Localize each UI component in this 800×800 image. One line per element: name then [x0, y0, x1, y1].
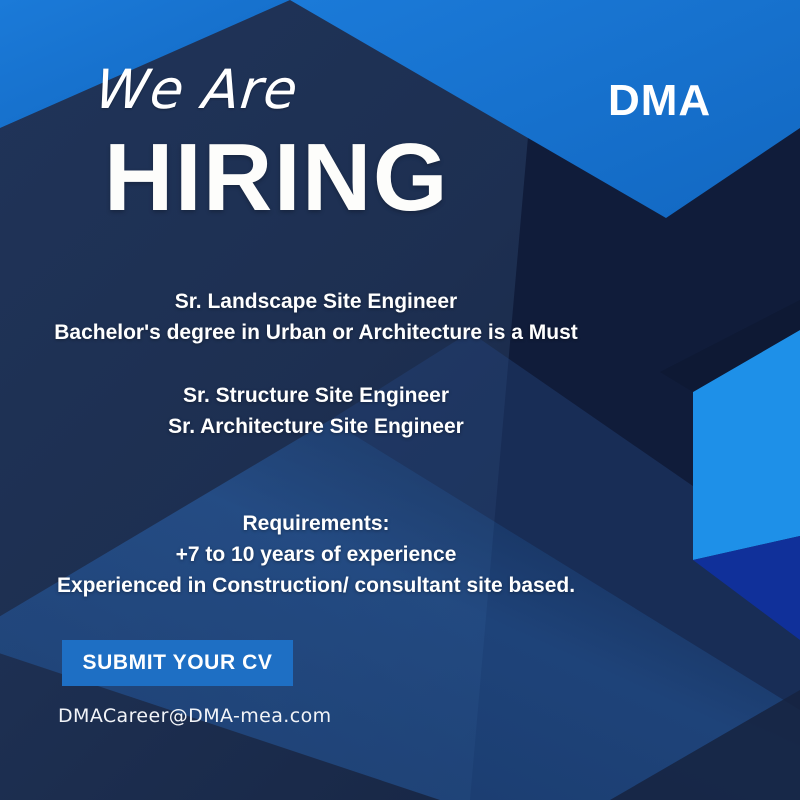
jobs-secondary-block: Sr. Structure Site Engineer Sr. Architec… — [0, 380, 632, 442]
requirements-block: Requirements: +7 to 10 years of experien… — [0, 508, 632, 601]
hiring-poster: We Are HIRING DMA Sr. Landscape Site Eng… — [0, 0, 800, 800]
headline-main: HIRING — [104, 130, 449, 226]
poster-content: We Are HIRING DMA Sr. Landscape Site Eng… — [0, 0, 800, 800]
job-title-architecture: Sr. Architecture Site Engineer — [0, 411, 632, 442]
requirement-experience-type: Experienced in Construction/ consultant … — [0, 570, 632, 601]
job-requirement-degree: Bachelor's degree in Urban or Architectu… — [0, 317, 632, 348]
headline-script: We Are — [93, 58, 302, 121]
submit-cv-button[interactable]: SUBMIT YOUR CV — [62, 640, 293, 686]
job-title-structure: Sr. Structure Site Engineer — [0, 380, 632, 411]
job-title-landscape: Sr. Landscape Site Engineer — [0, 286, 632, 317]
requirements-heading: Requirements: — [0, 508, 632, 539]
requirement-experience-years: +7 to 10 years of experience — [0, 539, 632, 570]
brand-logo: DMA — [608, 76, 711, 126]
jobs-primary-block: Sr. Landscape Site Engineer Bachelor's d… — [0, 286, 632, 348]
submit-cv-label: SUBMIT YOUR CV — [82, 651, 272, 675]
contact-email[interactable]: DMACareer@DMA-mea.com — [58, 705, 332, 727]
